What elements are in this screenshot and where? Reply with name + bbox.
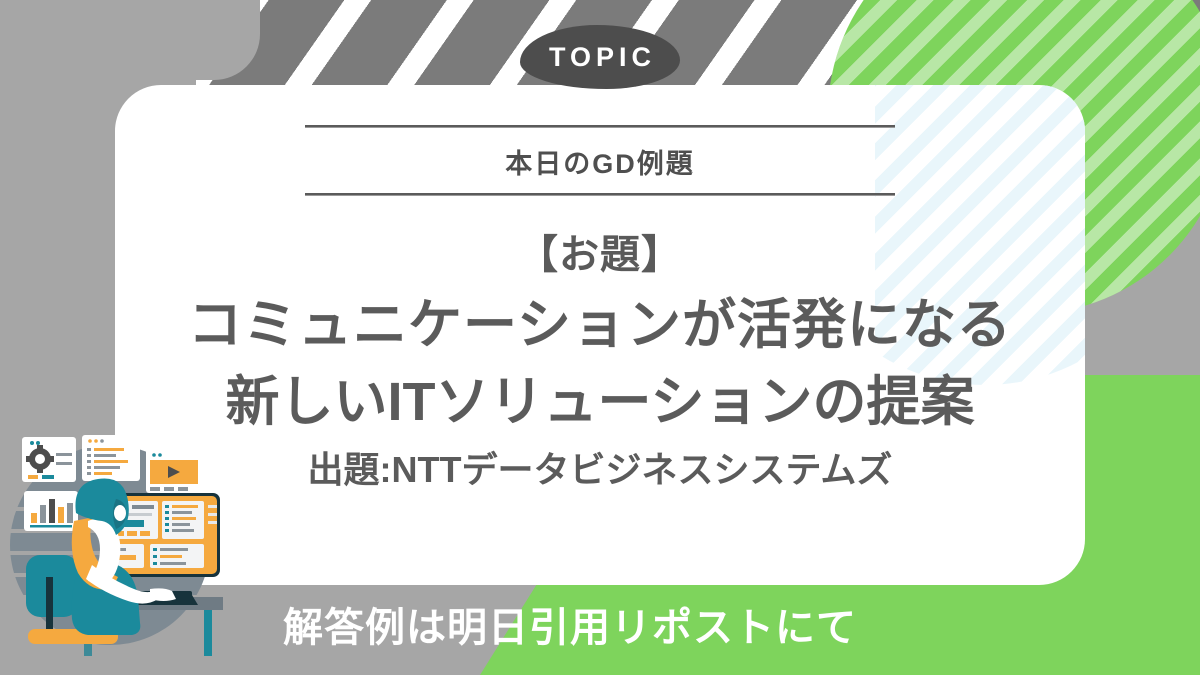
section-title: 本日のGD例題 xyxy=(305,128,895,193)
bar-chart-card-icon xyxy=(24,491,78,531)
topic-marker: 【お題】 xyxy=(518,222,682,280)
headline-line-1: コミュニケーションが活発になる xyxy=(188,294,1012,357)
person-at-desk-illustration xyxy=(0,417,242,667)
rule-bottom xyxy=(305,193,895,196)
top-left-rounded-block xyxy=(0,0,260,80)
byline: 出題:NTTデータビジネスシステムズ xyxy=(308,441,893,493)
section-title-block: 本日のGD例題 xyxy=(305,125,895,196)
gear-card-icon xyxy=(22,437,76,482)
headline-line-2: 新しいITソリューションの提案 xyxy=(226,371,975,434)
document-card-icon xyxy=(82,435,140,481)
card-content: 本日のGD例題 【お題】 コミュニケーションが活発になる 新しいITソリューショ… xyxy=(115,85,1085,585)
topic-badge: TOPIC xyxy=(520,25,680,89)
topic-badge-label: TOPIC xyxy=(544,42,656,73)
video-play-card-icon xyxy=(146,449,202,493)
slide-canvas: TOPIC 本日のGD例題 【お題】 コミュニケーションが活発になる 新しいIT… xyxy=(0,0,1200,675)
